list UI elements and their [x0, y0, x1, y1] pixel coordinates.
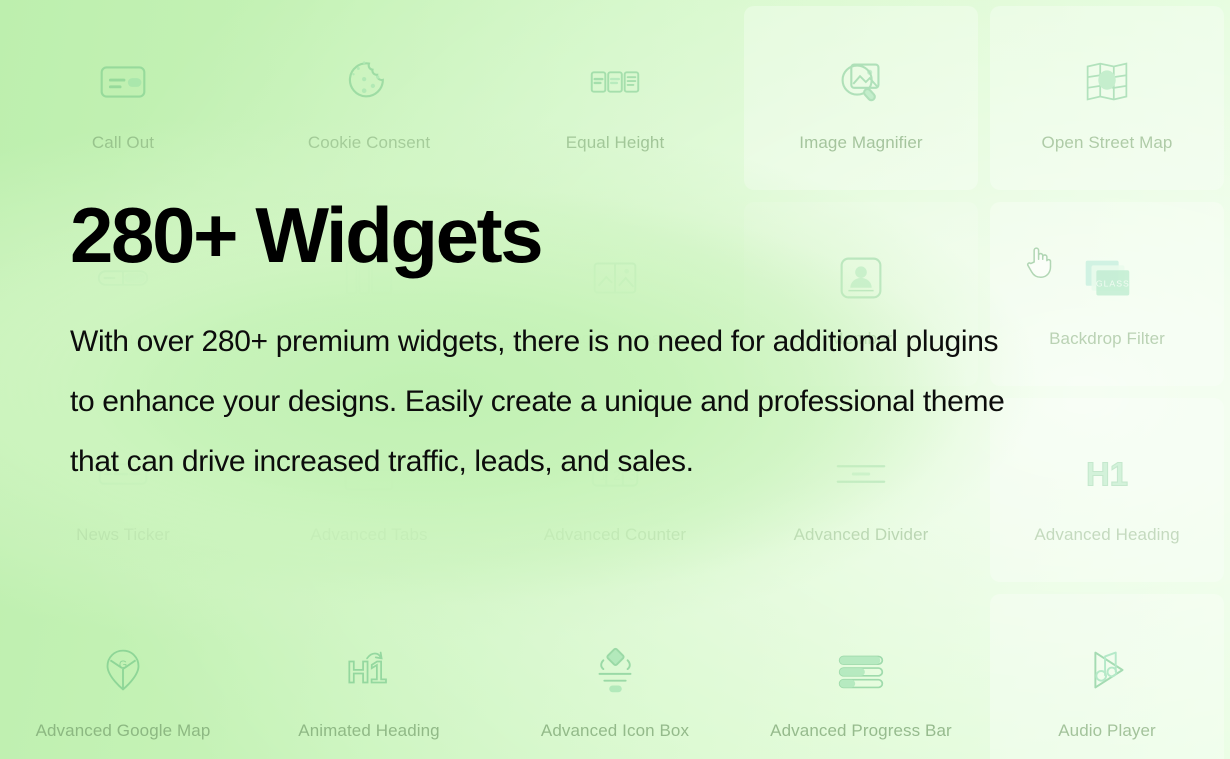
open-street-map-icon	[1076, 51, 1138, 113]
widget-card-label: Advanced Progress Bar	[770, 721, 952, 741]
widget-card-image-magnifier[interactable]: Image Magnifier	[738, 0, 984, 196]
glass-layers-icon: GLASS	[1076, 247, 1138, 309]
svg-text:GLASS: GLASS	[1096, 279, 1130, 289]
widgets-hero-section: Call Out Cookie Consent	[0, 0, 1230, 759]
widget-card-label: Cookie Consent	[308, 133, 430, 153]
widget-card-label: Advanced Icon Box	[541, 721, 689, 741]
widget-card-label: News Ticker	[76, 525, 170, 545]
widget-card-advanced-progress-bar[interactable]: Advanced Progress Bar	[738, 588, 984, 759]
widget-card-cookie-consent[interactable]: Cookie Consent	[246, 0, 492, 196]
equal-height-icon	[584, 51, 646, 113]
widget-card-label: Call Out	[92, 133, 154, 153]
cookie-icon	[338, 51, 400, 113]
widget-card-open-street-map[interactable]: Open Street Map	[984, 0, 1230, 196]
widget-card-label: Advanced Heading	[1034, 525, 1179, 545]
hero-copy: 280+ Widgets With over 280+ premium widg…	[70, 196, 1030, 492]
widget-card-call-out[interactable]: Call Out	[0, 0, 246, 196]
widget-card-audio-player[interactable]: Audio Player	[984, 588, 1230, 759]
widget-card-label: Audio Player	[1058, 721, 1156, 741]
widget-card-label: Image Magnifier	[799, 133, 922, 153]
progress-bars-icon	[830, 639, 892, 701]
page-title: 280+ Widgets	[70, 196, 1030, 276]
widget-card-equal-height[interactable]: Equal Height	[492, 0, 738, 196]
widget-card-label: Advanced Tabs	[310, 525, 427, 545]
map-pin-icon: G	[92, 639, 154, 701]
widget-card-advanced-icon-box[interactable]: Advanced Icon Box	[492, 588, 738, 759]
widget-card-label: Advanced Divider	[794, 525, 929, 545]
hero-description: With over 280+ premium widgets, there is…	[70, 312, 1010, 492]
svg-text:G: G	[119, 659, 127, 671]
widget-card-label: Equal Height	[566, 133, 665, 153]
animated-h1-icon: H1	[338, 639, 400, 701]
image-magnifier-icon	[830, 51, 892, 113]
widget-card-animated-heading[interactable]: H1 Animated Heading	[246, 588, 492, 759]
widget-card-label: Advanced Counter	[544, 525, 686, 545]
call-out-icon	[92, 51, 154, 113]
h1-heading-icon: H1	[1076, 443, 1138, 505]
widget-card-label: Advanced Google Map	[36, 721, 211, 741]
widget-card-label: Animated Heading	[298, 721, 439, 741]
icon-box-icon	[584, 639, 646, 701]
svg-text:H1: H1	[347, 655, 387, 690]
audio-player-icon	[1076, 639, 1138, 701]
widget-card-label: Open Street Map	[1042, 133, 1173, 153]
widget-card-advanced-google-map[interactable]: G Advanced Google Map	[0, 588, 246, 759]
widget-card-label: Backdrop Filter	[1049, 329, 1165, 349]
svg-text:H1: H1	[1086, 456, 1128, 493]
